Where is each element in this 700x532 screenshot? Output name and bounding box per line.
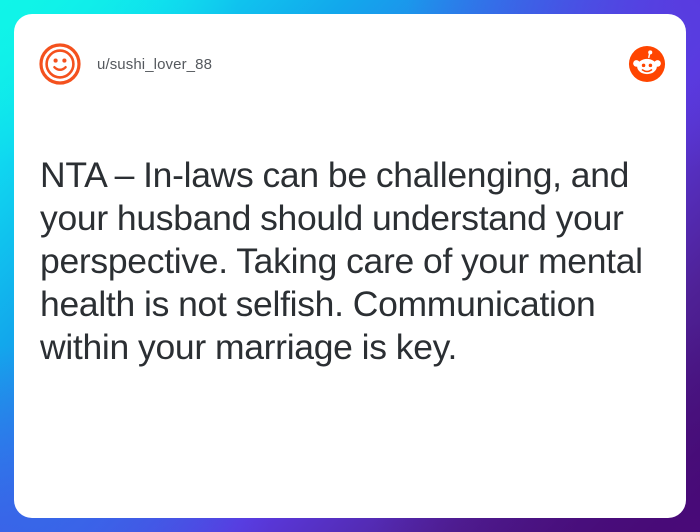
- reddit-comment-card: u/sushi_lover_88 NTA – In-laws can: [14, 14, 686, 518]
- reddit-snoo-icon[interactable]: [628, 45, 666, 83]
- card-header: u/sushi_lover_88: [14, 14, 686, 114]
- smiley-face-avatar-icon[interactable]: [39, 43, 81, 85]
- comment-text: NTA – In-laws can be challenging, and yo…: [40, 154, 670, 369]
- username-label[interactable]: u/sushi_lover_88: [97, 56, 212, 73]
